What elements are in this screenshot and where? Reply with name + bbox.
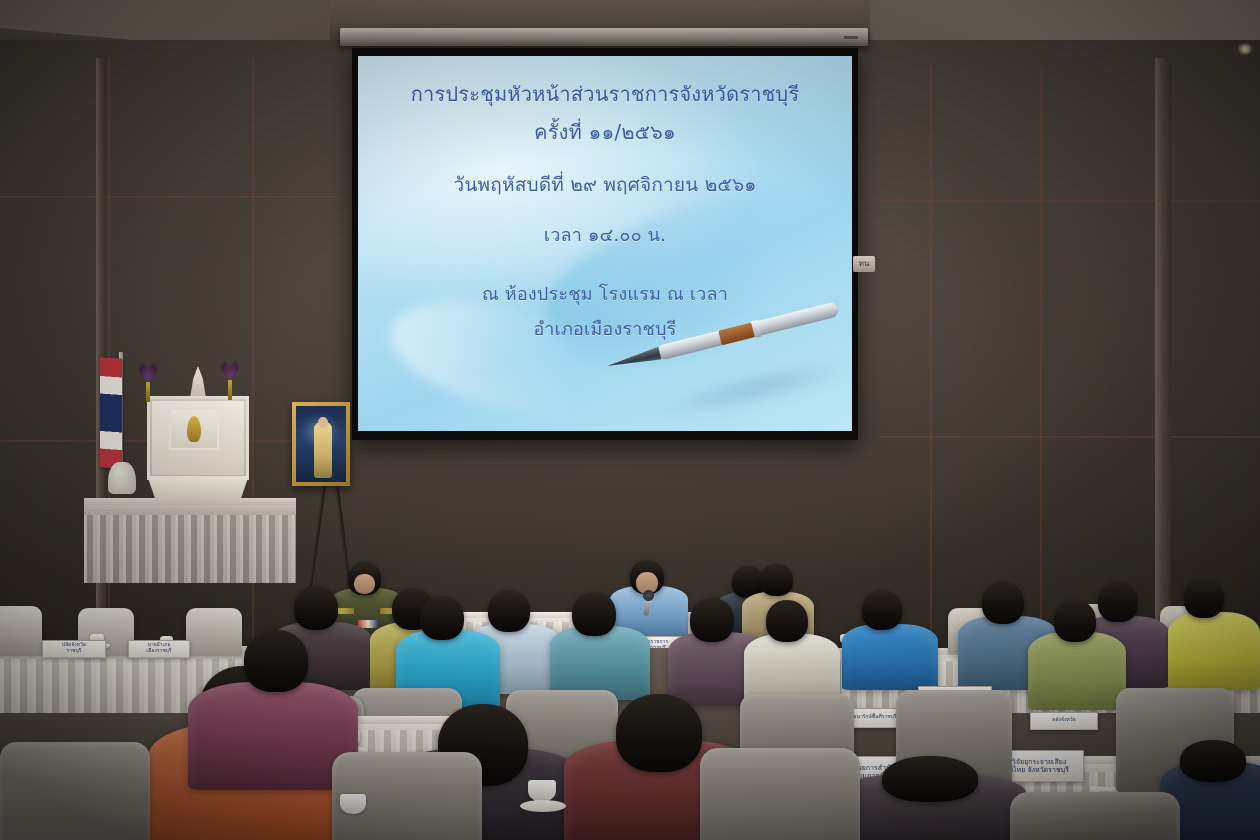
slide-meeting-time: เวลา ๑๔.๐๐ น. xyxy=(544,220,666,249)
portrait-figure xyxy=(314,422,332,478)
portrait-figure-head xyxy=(318,417,328,428)
vase-stem xyxy=(228,380,232,400)
slide-text-block: การประชุมหัวหน้าส่วนราชการจังหวัดราชบุรี… xyxy=(358,56,852,431)
chair[interactable] xyxy=(700,748,860,840)
wall-pilaster xyxy=(1155,58,1171,658)
placard-right-back-c: คลังจังหวัด xyxy=(1030,712,1098,730)
head xyxy=(616,694,702,772)
slide-meeting-date: วันพฤหัสบดีที่ ๒๙ พฤศจิกายน ๒๕๖๑ xyxy=(453,170,756,200)
person-teal-shirt xyxy=(550,592,650,700)
head xyxy=(294,586,338,630)
wall-seam xyxy=(880,436,1260,438)
head xyxy=(1180,740,1246,782)
head xyxy=(1054,600,1096,642)
vase-stem xyxy=(146,382,150,402)
head xyxy=(766,600,808,642)
head xyxy=(690,598,734,642)
wall-seam xyxy=(930,66,932,656)
projector-screen-housing xyxy=(340,28,868,46)
chair[interactable] xyxy=(1010,792,1180,840)
slide-meeting-title: การประชุมหัวหน้าส่วนราชการจังหวัดราชบุรี xyxy=(411,78,800,110)
royal-portrait-frame xyxy=(292,402,350,486)
wall-seam xyxy=(1040,70,1042,650)
head xyxy=(982,582,1024,624)
wall-seam xyxy=(0,196,340,198)
torso xyxy=(1028,632,1126,710)
royal-portrait-image xyxy=(296,406,346,482)
screen-roller-knob xyxy=(844,36,858,39)
ceiling-light-icon xyxy=(1238,44,1252,54)
person-yellow-shirt xyxy=(1168,578,1260,690)
flag-pole-base xyxy=(108,462,136,494)
person-foreground-right xyxy=(836,756,1026,840)
chair[interactable] xyxy=(0,742,150,840)
torso xyxy=(1168,612,1260,690)
head xyxy=(572,592,616,636)
shrine-base xyxy=(143,476,253,502)
wall-sign: ทน xyxy=(853,256,875,272)
head xyxy=(244,630,308,692)
conference-room-photo: การประชุมหัวหน้าส่วนราชการจังหวัดราชบุรี… xyxy=(0,0,1260,840)
wall-seam xyxy=(880,200,1260,202)
head xyxy=(882,756,978,802)
flower-vase-right xyxy=(218,358,242,400)
khaki-head xyxy=(760,564,793,596)
slide-meeting-number: ครั้งที่ ๑๑/๒๕๖๑ xyxy=(534,116,676,148)
torso xyxy=(842,624,938,690)
thai-flag-icon xyxy=(100,357,122,469)
buddha-statue-icon xyxy=(187,416,201,442)
slide-venue-line-2: อำเภอเมืองราชบุรี xyxy=(533,314,676,343)
saucer xyxy=(520,800,566,812)
person-blue-shirt xyxy=(842,590,938,690)
placard-left-back: ปลัดจังหวัด ราชบุรี xyxy=(42,640,106,658)
placard-left-back-2: นายอำเภอ เมืองราชบุรี xyxy=(128,640,190,658)
coffee-cup xyxy=(528,780,556,802)
head xyxy=(420,596,464,640)
altar-table xyxy=(84,505,296,583)
empty-chair[interactable] xyxy=(0,606,42,656)
flower-vase-left xyxy=(136,360,160,402)
head xyxy=(862,590,902,630)
person-olive-shirt xyxy=(1028,600,1126,710)
coffee-cup xyxy=(340,794,366,814)
head xyxy=(1184,578,1224,618)
projection-screen: การประชุมหัวหน้าส่วนราชการจังหวัดราชบุรี… xyxy=(352,48,858,440)
altar-table-skirt xyxy=(84,515,296,583)
slide-venue-line-1: ณ ห้องประชุม โรงแรม ณ เวลา xyxy=(482,279,728,308)
projected-slide: การประชุมหัวหน้าส่วนราชการจังหวัดราชบุรี… xyxy=(358,56,852,431)
torso xyxy=(550,626,650,700)
